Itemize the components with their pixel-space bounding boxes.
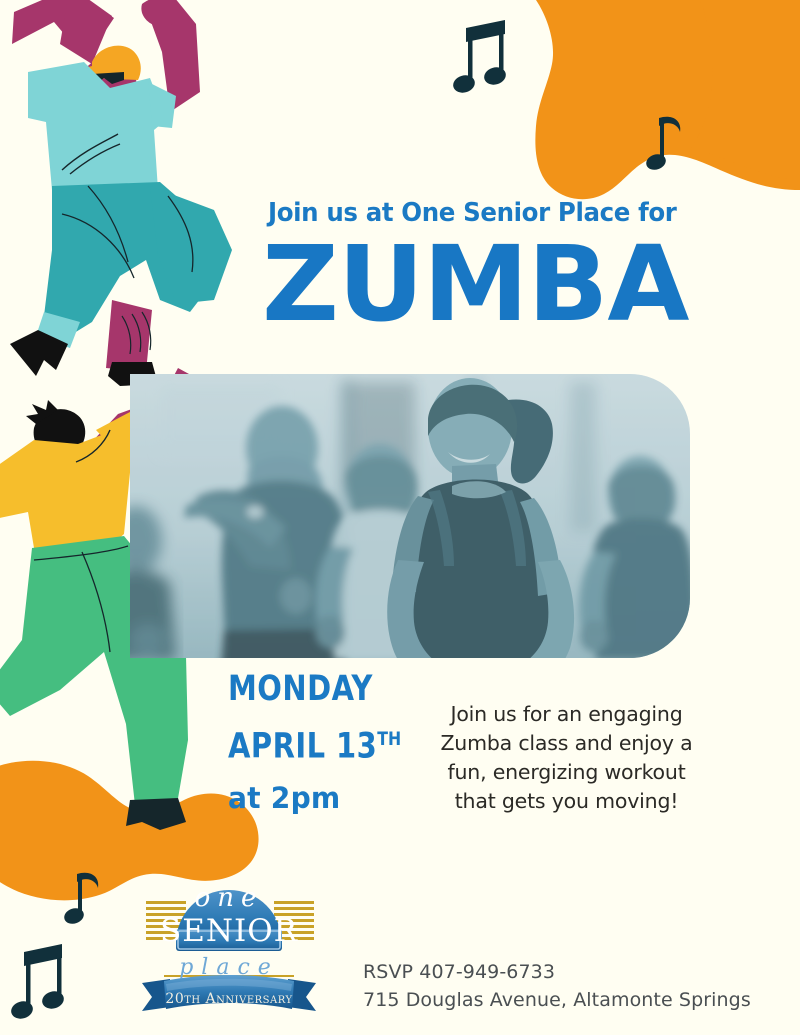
event-date-text: APRIL 13 <box>228 727 377 767</box>
zumba-flyer: Join us at One Senior Place for ZUMBA MO… <box>0 0 800 1035</box>
logo-anniversary-banner: 20th Anniversary <box>134 991 324 1007</box>
event-date-ordinal: TH <box>377 728 401 750</box>
event-date: APRIL 13TH <box>228 717 421 770</box>
class-photo <box>0 0 800 1035</box>
page-title: ZUMBA <box>262 232 688 336</box>
one-senior-place-logo: one SENIOR place 20th Anniversary <box>134 873 324 1023</box>
event-time: at 2pm <box>228 782 432 815</box>
event-day: MONDAY <box>228 667 421 712</box>
event-description: Join us for an engaging Zumba class and … <box>424 700 709 816</box>
logo-word-place: place <box>134 955 324 980</box>
venue-address: 715 Douglas Avenue, Altamonte Springs <box>363 986 783 1014</box>
contact-block: RSVP 407-949-6733 715 Douglas Avenue, Al… <box>363 958 783 1014</box>
rsvp-phone: RSVP 407-949-6733 <box>363 958 783 986</box>
event-when-block: MONDAY APRIL 13TH at 2pm <box>228 667 438 815</box>
logo-word-senior: SENIOR <box>134 913 324 949</box>
logo-word-one: one <box>134 883 324 913</box>
